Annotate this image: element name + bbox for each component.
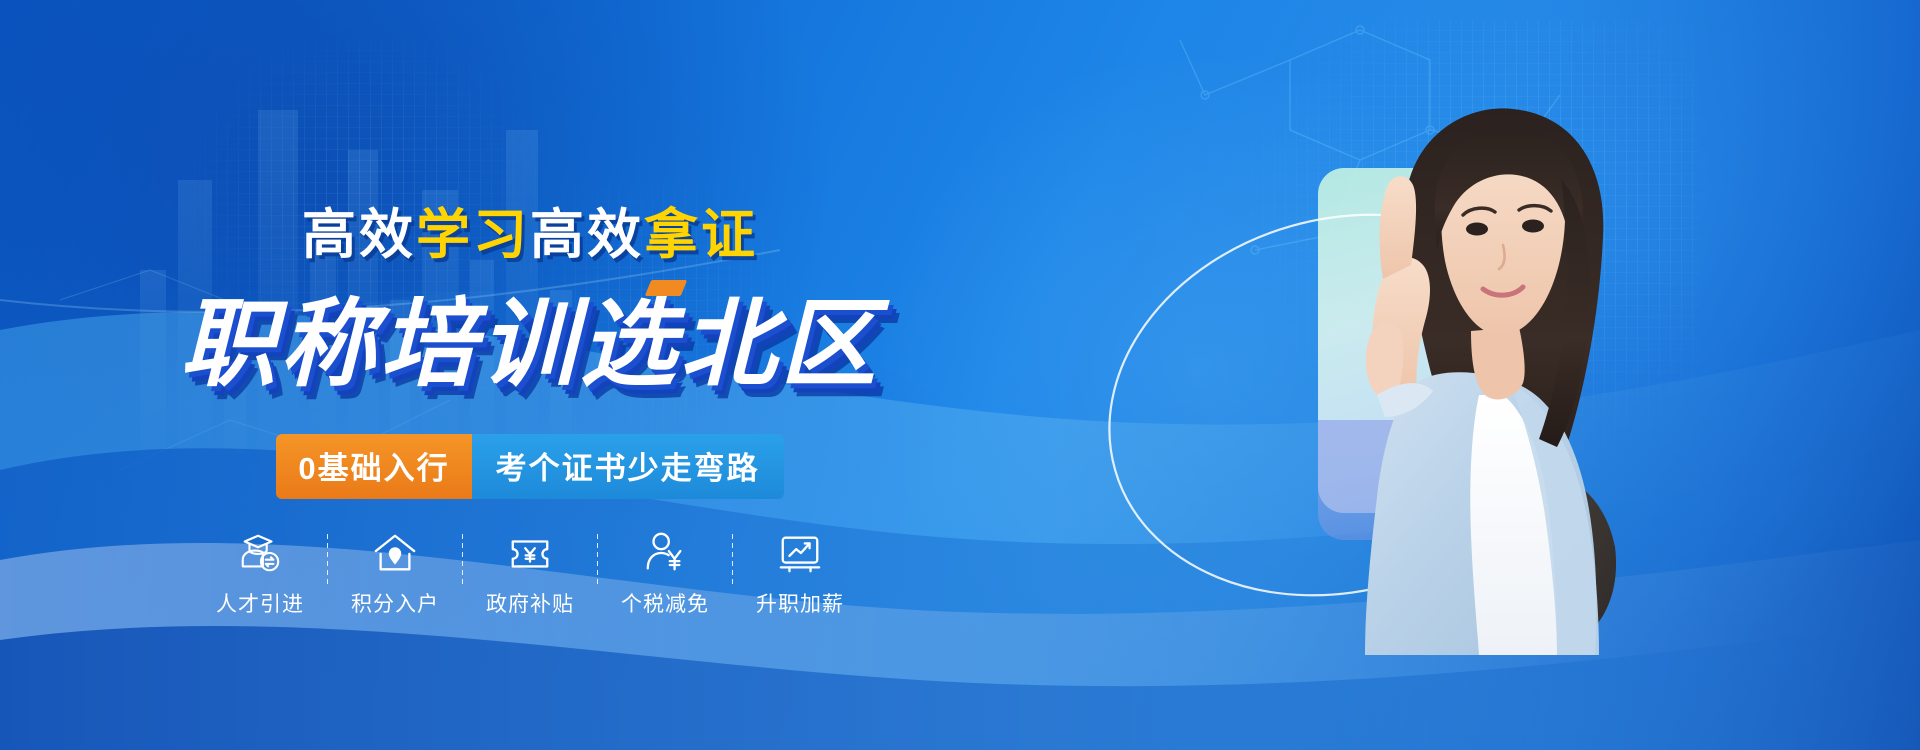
chart-board-icon [777, 530, 823, 576]
feature-label: 个税减免 [621, 588, 709, 618]
kicker-part-2: 高效 [530, 205, 644, 265]
feature-row: 人才引进 积分入户 政府补贴 [0, 530, 1060, 618]
orange-accent-slash [645, 280, 687, 296]
kicker-line: 高效学习高效拿证 [0, 190, 1060, 269]
badge-zero-basis[interactable]: 0基础入行 [276, 434, 471, 499]
feature-item-tax-reduction[interactable]: 个税减免 [598, 530, 732, 618]
feature-label: 人才引进 [216, 588, 304, 618]
ticket-yuan-icon [507, 530, 553, 576]
feature-label: 升职加薪 [756, 588, 844, 618]
person-yuan-icon [642, 530, 688, 576]
feature-item-government-subsidy[interactable]: 政府补贴 [463, 530, 597, 618]
feature-item-points-residency[interactable]: 积分入户 [328, 530, 462, 618]
kicker-part-1: 高效 [302, 205, 416, 265]
feature-label: 积分入户 [351, 588, 439, 618]
badge-row: 0基础入行 考个证书少走弯路 [0, 434, 1060, 499]
banner-content: 高效学习高效拿证 职称培训选北区 0基础入行 考个证书少走弯路 人才引进 [0, 0, 1060, 750]
headline: 职称培训选北区 [0, 266, 1060, 405]
feature-item-talent-introduction[interactable]: 人才引进 [193, 530, 327, 618]
graduate-exchange-icon [237, 530, 283, 576]
house-pin-icon [372, 530, 418, 576]
badge-certificate[interactable]: 考个证书少走弯路 [472, 434, 784, 499]
kicker-highlight-1: 学习 [416, 205, 530, 265]
feature-item-promotion-raise[interactable]: 升职加薪 [733, 530, 867, 618]
promo-banner: 高效学习高效拿证 职称培训选北区 0基础入行 考个证书少走弯路 人才引进 [0, 0, 1920, 750]
presenter-photo [1265, 95, 1695, 655]
feature-label: 政府补贴 [486, 588, 574, 618]
kicker-highlight-2: 拿证 [644, 205, 758, 265]
